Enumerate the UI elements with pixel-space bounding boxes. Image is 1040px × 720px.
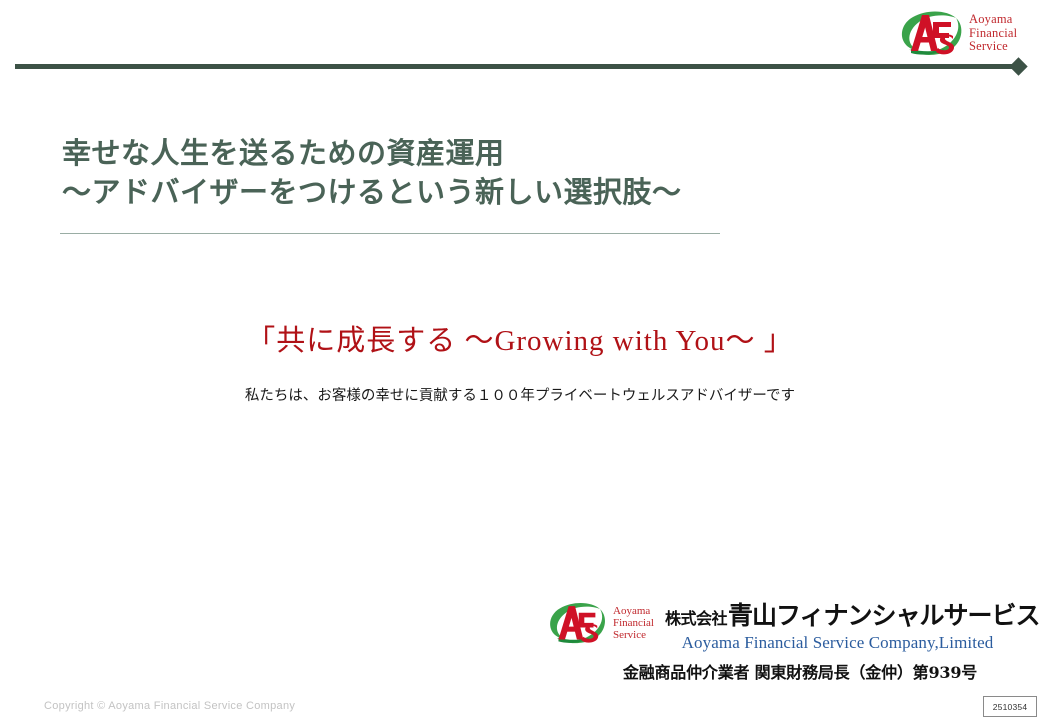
company-name-english: Aoyama Financial Service Company,Limited: [665, 633, 1010, 653]
afs-logo-icon: [893, 6, 967, 58]
registration-number: 金融商品仲介業者 関東財務局長（金仲）第939号: [600, 659, 1000, 683]
title-underline: [60, 233, 720, 234]
company-name-prefix: 株式会社: [665, 605, 727, 629]
company-name-main: 青山フィナンシャルサービス: [728, 596, 1040, 632]
slide-root: Aoyama Financial Service 幸せな人生を送るための資産運用…: [0, 0, 1040, 720]
page-title-line-1: 幸せな人生を送るための資産運用: [62, 134, 822, 173]
page-title-line-2: 〜アドバイザーをつけるという新しい選択肢〜: [62, 173, 822, 212]
header-logo-word-line1: Aoyama: [969, 13, 1017, 27]
company-name-group: 株式会社 青山フィナンシャルサービス Aoyama Financial Serv…: [665, 596, 1010, 653]
company-logo-word-line3: Service: [613, 629, 654, 641]
document-code-box: 2510354: [983, 696, 1037, 717]
header-divider-diamond-icon: [1009, 57, 1027, 75]
company-logo-word-line2: Financial: [613, 617, 654, 629]
copyright-notice: Copyright © Aoyama Financial Service Com…: [44, 700, 295, 712]
tagline-sub: 私たちは、お客様の幸せに貢献する１００年プライベートウェルスアドバイザーです: [0, 385, 1040, 407]
header-brand-logo: Aoyama Financial Service: [893, 6, 1035, 60]
header-divider-bar: [15, 64, 1018, 69]
header-logo-word-line2: Financial: [969, 27, 1017, 41]
company-logo-word-line1: Aoyama: [613, 605, 654, 617]
afs-logo-icon: [540, 598, 612, 646]
tagline-main: 「共に成長する ～Growing with You～ 」: [0, 322, 1040, 360]
company-logo-wordmark: Aoyama Financial Service: [613, 605, 654, 642]
header-logo-word-line3: Service: [969, 40, 1017, 54]
company-name-japanese: 株式会社 青山フィナンシャルサービス: [665, 596, 1010, 632]
page-title: 幸せな人生を送るための資産運用 〜アドバイザーをつけるという新しい選択肢〜: [62, 134, 822, 212]
company-identity: Aoyama Financial Service 株式会社 青山フィナンシャルサ…: [540, 596, 1010, 650]
header-logo-wordmark: Aoyama Financial Service: [969, 13, 1017, 54]
